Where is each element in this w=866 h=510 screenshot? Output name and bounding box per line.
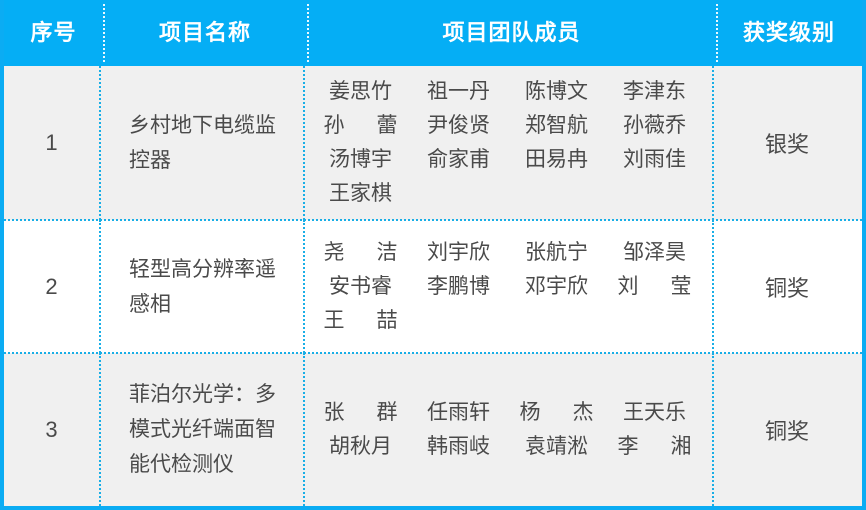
member-name: 邹泽昊 bbox=[612, 236, 698, 270]
member-name: 张群 bbox=[318, 396, 404, 430]
project-name-cell: 乡村地下电缆监控器 bbox=[99, 66, 303, 220]
table-body: 1 乡村地下电缆监控器 姜思竹 祖一丹 陈博文 李津东 孙蕾 尹俊贤 郑智航 孙… bbox=[4, 66, 862, 506]
member-name: 尧洁 bbox=[318, 236, 404, 270]
member-name: 张航宁 bbox=[514, 236, 600, 270]
column-header-name: 项目名称 bbox=[103, 0, 307, 66]
column-header-no: 序号 bbox=[4, 0, 103, 66]
member-name: 王家棋 bbox=[318, 177, 404, 211]
row-number-cell: 2 bbox=[4, 220, 99, 353]
member-name: 刘雨佳 bbox=[612, 143, 698, 177]
award-level-cell: 铜奖 bbox=[712, 353, 862, 506]
member-name: 邓宇欣 bbox=[514, 270, 600, 304]
member-name: 胡秋月 bbox=[318, 430, 404, 464]
member-name: 安书睿 bbox=[318, 270, 404, 304]
row-number: 3 bbox=[45, 417, 57, 443]
member-name: 李鹏博 bbox=[416, 270, 502, 304]
team-members-cell: 尧洁 刘宇欣 张航宁 邹泽昊 安书睿 李鹏博 邓宇欣 刘莹 王喆 bbox=[303, 220, 712, 353]
member-name: 孙薇乔 bbox=[612, 109, 698, 143]
team-members-cell: 张群 任雨轩 杨杰 王天乐 胡秋月 韩雨岐 袁靖淞 李湘 bbox=[303, 353, 712, 506]
table-row: 2 轻型高分辨率遥感相 尧洁 刘宇欣 张航宁 邹泽昊 安书睿 李鹏博 邓宇欣 刘… bbox=[4, 220, 862, 353]
member-name: 姜思竹 bbox=[318, 75, 404, 109]
member-name: 田易冉 bbox=[514, 143, 600, 177]
project-name-cell: 菲泊尔光学：多模式光纤端面智能代检测仪 bbox=[99, 353, 303, 506]
member-name: 刘宇欣 bbox=[416, 236, 502, 270]
member-name: 袁靖淞 bbox=[514, 430, 600, 464]
project-name-cell: 轻型高分辨率遥感相 bbox=[99, 220, 303, 353]
column-header-members: 项目团队成员 bbox=[307, 0, 716, 66]
member-name: 刘莹 bbox=[612, 270, 698, 304]
member-name: 陈博文 bbox=[514, 75, 600, 109]
project-name: 轻型高分辨率遥感相 bbox=[99, 252, 303, 322]
member-name: 李湘 bbox=[612, 430, 698, 464]
member-name: 韩雨岐 bbox=[416, 430, 502, 464]
member-name: 俞家甫 bbox=[416, 143, 502, 177]
table-row: 3 菲泊尔光学：多模式光纤端面智能代检测仪 张群 任雨轩 杨杰 王天乐 胡秋月 … bbox=[4, 353, 862, 506]
member-name: 王天乐 bbox=[612, 396, 698, 430]
award-level: 铜奖 bbox=[765, 271, 809, 303]
team-members-grid: 姜思竹 祖一丹 陈博文 李津东 孙蕾 尹俊贤 郑智航 孙薇乔 汤博宇 俞家甫 田… bbox=[303, 75, 712, 211]
member-name: 尹俊贤 bbox=[416, 109, 502, 143]
row-number-cell: 1 bbox=[4, 66, 99, 220]
row-number-cell: 3 bbox=[4, 353, 99, 506]
table-header-row: 序号 项目名称 项目团队成员 获奖级别 bbox=[4, 0, 862, 66]
member-name: 王喆 bbox=[318, 304, 404, 338]
project-name: 菲泊尔光学：多模式光纤端面智能代检测仪 bbox=[99, 377, 303, 482]
award-level: 银奖 bbox=[765, 127, 809, 159]
member-name: 杨杰 bbox=[514, 396, 600, 430]
member-name: 祖一丹 bbox=[416, 75, 502, 109]
member-name: 任雨轩 bbox=[416, 396, 502, 430]
member-name: 孙蕾 bbox=[318, 109, 404, 143]
column-header-award: 获奖级别 bbox=[716, 0, 862, 66]
member-name: 李津东 bbox=[612, 75, 698, 109]
award-level-cell: 银奖 bbox=[712, 66, 862, 220]
row-number: 2 bbox=[45, 274, 57, 300]
project-name: 乡村地下电缆监控器 bbox=[99, 108, 303, 178]
team-members-cell: 姜思竹 祖一丹 陈博文 李津东 孙蕾 尹俊贤 郑智航 孙薇乔 汤博宇 俞家甫 田… bbox=[303, 66, 712, 220]
row-number: 1 bbox=[45, 130, 57, 156]
team-members-grid: 张群 任雨轩 杨杰 王天乐 胡秋月 韩雨岐 袁靖淞 李湘 bbox=[303, 396, 712, 464]
member-name: 汤博宇 bbox=[318, 143, 404, 177]
table-row: 1 乡村地下电缆监控器 姜思竹 祖一丹 陈博文 李津东 孙蕾 尹俊贤 郑智航 孙… bbox=[4, 66, 862, 220]
award-level-cell: 铜奖 bbox=[712, 220, 862, 353]
team-members-grid: 尧洁 刘宇欣 张航宁 邹泽昊 安书睿 李鹏博 邓宇欣 刘莹 王喆 bbox=[303, 236, 712, 338]
member-name: 郑智航 bbox=[514, 109, 600, 143]
award-projects-table: 序号 项目名称 项目团队成员 获奖级别 1 乡村地下电缆监控器 姜思竹 祖一丹 … bbox=[0, 0, 866, 510]
award-level: 铜奖 bbox=[765, 414, 809, 446]
